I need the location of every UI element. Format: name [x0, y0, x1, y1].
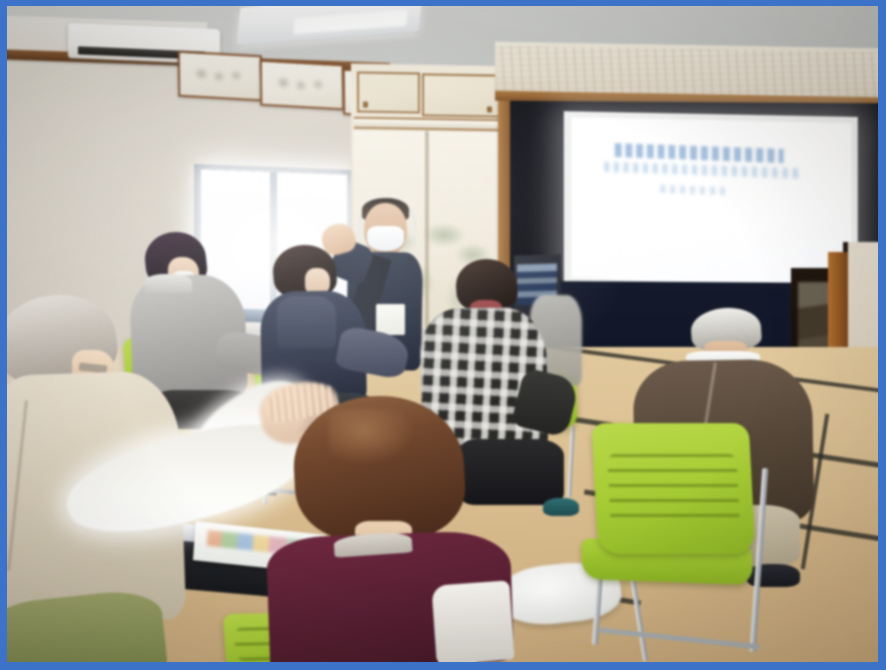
transom-panel — [357, 71, 420, 113]
attendee-maroon-vest-shirt — [431, 581, 515, 662]
armband-badge — [376, 304, 405, 334]
attendee-check-coat-shoe — [543, 498, 580, 516]
face-mask-icon — [367, 226, 404, 250]
projection-screen — [571, 117, 851, 291]
photograph: Community health seminar in a Japanese t… — [7, 6, 878, 662]
calligraphy-plaque — [260, 59, 345, 110]
transom-rail — [354, 116, 504, 131]
attendee-check-coat-lap — [460, 439, 565, 505]
photo-frame: Community health seminar in a Japanese t… — [0, 0, 886, 670]
transom-panel — [422, 74, 500, 119]
calligraphy-plaque — [177, 51, 262, 102]
attendee-grey-jacket-collar — [145, 274, 192, 294]
chair-backrest — [591, 423, 755, 554]
hair-highlight — [329, 409, 416, 465]
attendee-navy-vest-garment — [277, 296, 336, 348]
